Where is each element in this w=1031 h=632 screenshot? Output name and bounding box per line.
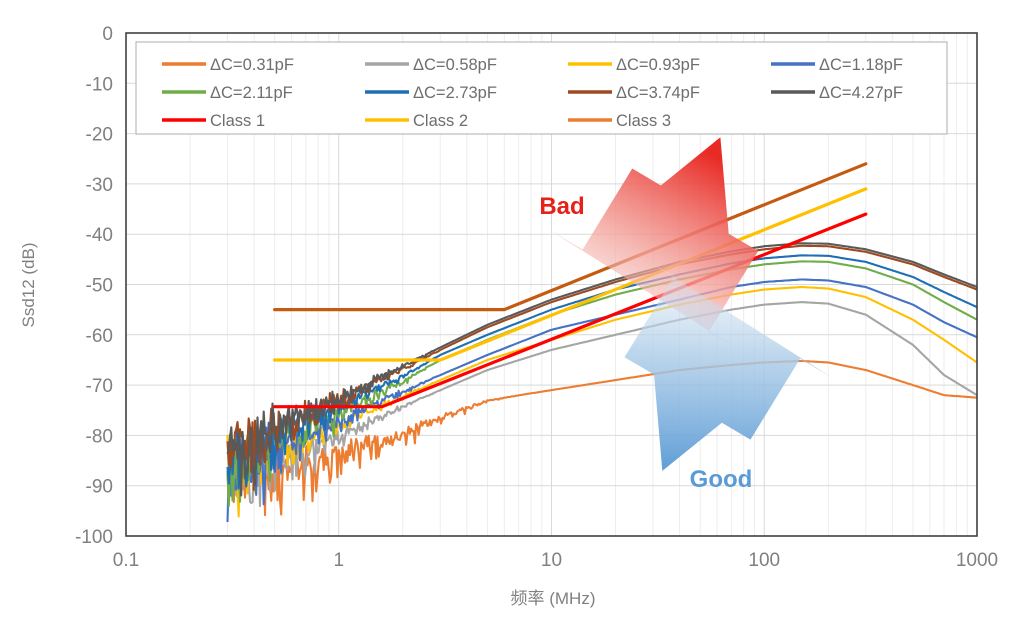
legend-label: ΔC=4.27pF bbox=[819, 84, 903, 102]
legend-label: ΔC=2.11pF bbox=[210, 84, 293, 102]
x-tick-label: 1 bbox=[333, 550, 344, 571]
x-tick-label: 0.1 bbox=[113, 550, 139, 571]
y-tick-label: -20 bbox=[86, 125, 113, 146]
y-tick-label: 0 bbox=[102, 24, 113, 45]
x-tick-label: 1000 bbox=[956, 550, 998, 571]
good-label: Good bbox=[690, 466, 753, 493]
legend-label: ΔC=3.74pF bbox=[616, 84, 700, 102]
legend-label: Class 1 bbox=[210, 112, 265, 130]
y-tick-label: -60 bbox=[86, 326, 113, 347]
legend-label: ΔC=0.58pF bbox=[413, 56, 497, 74]
legend-label: Class 3 bbox=[616, 112, 671, 130]
x-tick-label: 100 bbox=[748, 550, 780, 571]
y-tick-label: -50 bbox=[86, 276, 113, 297]
y-tick-label: -10 bbox=[86, 74, 113, 95]
legend-label: ΔC=1.18pF bbox=[819, 56, 903, 74]
x-tick-label: 10 bbox=[541, 550, 562, 571]
y-axis-title: Ssd12 (dB) bbox=[19, 242, 38, 327]
legend-label: ΔC=0.31pF bbox=[210, 56, 294, 74]
y-tick-label: -80 bbox=[86, 426, 113, 447]
bad-label: Bad bbox=[539, 193, 584, 220]
legend-label: ΔC=2.73pF bbox=[413, 84, 497, 102]
legend-label: Class 2 bbox=[413, 112, 468, 130]
legend: ΔC=0.31pFΔC=0.58pFΔC=0.93pFΔC=1.18pFΔC=2… bbox=[136, 42, 947, 134]
x-axis-title: 频率 (MHz) bbox=[511, 589, 596, 608]
y-tick-label: -70 bbox=[86, 376, 113, 397]
y-tick-label: -30 bbox=[86, 175, 113, 196]
legend-label: ΔC=0.93pF bbox=[616, 56, 700, 74]
y-tick-label: -100 bbox=[75, 527, 113, 548]
ssd12-vs-frequency-chart: Bad Good 0-10-20-30-40-50-60-70-80-90-10… bbox=[0, 0, 1031, 632]
chart-container: Bad Good 0-10-20-30-40-50-60-70-80-90-10… bbox=[0, 0, 1031, 632]
y-tick-label: -90 bbox=[86, 477, 113, 498]
y-tick-label: -40 bbox=[86, 225, 113, 246]
